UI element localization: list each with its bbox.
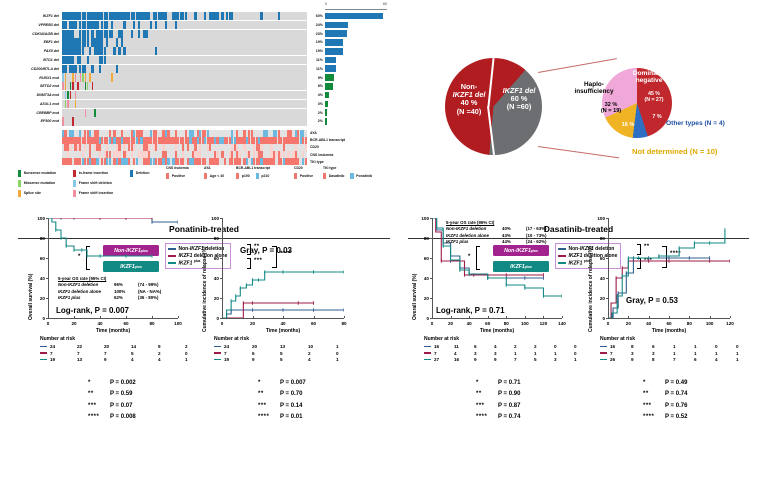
alteration-cell — [221, 12, 223, 20]
nar-value: 6 — [652, 344, 673, 349]
x-tick: 60 — [481, 321, 495, 326]
legend-item: Frame shift deletion — [73, 180, 113, 187]
p-value-stars: **** — [643, 412, 665, 423]
annotation-cell — [305, 130, 307, 137]
gene-frequency-bar — [325, 57, 336, 64]
ponatinib-panel: Ponatinib-treated Non-IKZF1plusIKZF1plus… — [8, 218, 400, 501]
ikzf1-distribution-pies: Non- IKZF1 del 40 % (N =40) IKZF1 del 60… — [420, 48, 759, 208]
p-value-row: **P = 0.59 — [88, 389, 136, 400]
nar-value: 14 — [131, 344, 158, 349]
alteration-cell — [101, 38, 103, 46]
gene-frequency-bar-area — [323, 117, 385, 125]
main-pie-non-ikzf1-label: Non- IKZF1 del 40 % (N =40) — [446, 83, 492, 116]
gene-frequency-bar — [325, 13, 383, 20]
gene-label: IKZF1 del — [0, 12, 62, 20]
alteration-cell — [65, 73, 66, 81]
p-value-row: ***P = 0.87 — [476, 401, 520, 412]
alteration-cell — [74, 21, 76, 29]
log-rank-result: Log-rank, P = 0.71 — [436, 306, 505, 315]
nar-value: 1 — [736, 357, 757, 362]
annotation-track — [62, 130, 307, 137]
legend-group: TKI typeDasatinibPonatinib — [323, 166, 378, 183]
nar-value: 16 — [454, 357, 474, 362]
legend-label: Age < 40 — [210, 174, 225, 178]
alteration-cell — [62, 73, 63, 81]
nar-value: 7 — [104, 351, 131, 356]
nar-group-dash — [600, 346, 607, 348]
alteration-cell — [85, 73, 86, 81]
p-value-stars: ** — [643, 389, 665, 400]
y-tick: 100 — [418, 216, 429, 221]
alteration-cell — [62, 38, 64, 46]
alteration-cell — [91, 65, 93, 73]
alteration-cell — [89, 21, 91, 29]
nar-value: 19 — [50, 357, 77, 362]
nar-value: 2 — [308, 351, 336, 356]
gene-frequency-pct: 19% — [307, 49, 323, 53]
p-value-stars: ** — [88, 389, 110, 400]
gene-alteration-track — [62, 56, 307, 64]
os-x-axis-label: Time (months) — [48, 328, 178, 334]
p-value-text: P = 0.76 — [665, 401, 687, 412]
y-tick: 100 — [208, 216, 219, 221]
number-at-risk-row: 26987641 — [600, 356, 757, 362]
nar-value: 4 — [131, 357, 158, 362]
nar-value: 6 — [252, 351, 280, 356]
number-at-risk-table: Number at risk24201310176520199541 — [214, 336, 364, 363]
alteration-cell — [89, 73, 90, 81]
dominant-negative-n: (N = 27) — [645, 97, 664, 103]
annotation-track — [62, 151, 307, 158]
nar-value: 26 — [610, 357, 631, 362]
x-tick: 100 — [171, 321, 185, 326]
alteration-cell — [180, 12, 182, 20]
x-tick: 20 — [246, 321, 260, 326]
annotation-row-label: CNS leukemia — [307, 153, 333, 157]
nar-group-dash — [40, 346, 47, 348]
p-value-stars: **** — [476, 412, 498, 423]
legend-item: Nonsense mutation — [18, 170, 56, 177]
nar-value: 11 — [454, 344, 474, 349]
nar-value: 5 — [280, 351, 308, 356]
p-value-stars: ** — [476, 389, 498, 400]
alteration-cell — [96, 12, 98, 20]
x-tick: 0 — [601, 321, 615, 326]
annotation-row-label: AYA — [307, 131, 317, 135]
alteration-cell — [69, 30, 71, 38]
x-tick: 40 — [276, 321, 290, 326]
nar-value: 7 — [434, 351, 454, 356]
nar-value: 4 — [494, 344, 514, 349]
oncoprint-gene-row: VPREB3 del24% — [0, 21, 385, 29]
alteration-cell — [116, 38, 118, 46]
alteration-cell — [72, 56, 74, 64]
nar-value: 20 — [252, 344, 280, 349]
gene-frequency-bar — [325, 83, 333, 90]
os-rate-stats: 5-year OS rate (95% CI)Non-IKZF1 deletio… — [446, 220, 547, 246]
alteration-cell — [113, 47, 115, 55]
alteration-cell — [87, 82, 88, 90]
alteration-cell — [138, 12, 140, 20]
gene-alteration-track — [62, 117, 307, 125]
p-value-text: P = 0.90 — [498, 389, 520, 400]
nar-value: 27 — [434, 357, 454, 362]
alteration-cell — [72, 21, 74, 29]
alteration-cell — [65, 91, 66, 99]
gene-frequency-bar — [325, 118, 327, 125]
alteration-cell — [111, 30, 113, 38]
p-value-row: *P = 0.007 — [258, 378, 306, 389]
alteration-cell — [72, 117, 73, 125]
nar-value: 1 — [673, 351, 694, 356]
p-value-text: P = 0.49 — [665, 378, 687, 389]
legend-swatch — [323, 173, 326, 180]
legend-label: Missense mutation — [24, 181, 56, 185]
alteration-cell — [131, 30, 133, 38]
alteration-cell — [62, 117, 63, 125]
alteration-cell — [138, 21, 140, 29]
alteration-cell — [148, 12, 150, 20]
dasatinib-panel: Dasatinib-treated Non-IKZF1plusIKZF1plus… — [398, 218, 759, 501]
oncoprint-gene-row: PAX5 del19% — [0, 47, 385, 55]
alteration-cell — [92, 82, 93, 90]
nar-group-dash — [214, 352, 221, 354]
nar-group-dash — [424, 346, 431, 348]
nar-value: 1 — [336, 357, 364, 362]
alteration-cell — [65, 100, 66, 108]
not-determined-label: Not determined (N = 10) — [632, 148, 759, 157]
x-tick: 100 — [518, 321, 532, 326]
legend-swatch — [18, 180, 21, 187]
legend-swatch — [130, 170, 133, 177]
x-tick: 80 — [145, 321, 159, 326]
legend-label: Nonsense mutation — [24, 171, 56, 175]
x-tick: 40 — [93, 321, 107, 326]
gene-frequency-bar — [325, 109, 327, 116]
nar-value: 6 — [694, 357, 715, 362]
alteration-cell — [226, 12, 228, 20]
nar-value: 5 — [534, 357, 554, 362]
alteration-cell — [214, 12, 216, 20]
oncoprint-bar-axis: 0 60 — [325, 2, 397, 12]
x-tick-mark — [730, 316, 731, 318]
p-value-text: P = 0.07 — [110, 401, 132, 412]
p-value-row: **P = 0.90 — [476, 389, 520, 400]
nar-value: 7 — [610, 351, 631, 356]
alteration-cell — [67, 100, 68, 108]
oncoprint-panel: 0 60 IKZF1 del60%VPREB3 del24%CDKN2A/2B … — [0, 0, 400, 205]
alteration-cell — [94, 109, 95, 117]
legend-swatch — [18, 190, 21, 197]
y-tick: 40 — [594, 276, 605, 281]
gene-frequency-pct: 23% — [307, 32, 323, 36]
alteration-cell — [82, 47, 84, 55]
p-value-row: *P = 0.71 — [476, 378, 520, 389]
legend-swatch — [204, 173, 207, 180]
legend-swatch — [73, 170, 76, 177]
nar-value: 0 — [336, 351, 364, 356]
nar-value: 9 — [252, 357, 280, 362]
p-value-text: P = 0.008 — [110, 412, 136, 423]
legend-item: Ponatinib — [350, 173, 372, 180]
nar-value: 22 — [77, 344, 104, 349]
alteration-cell — [121, 38, 123, 46]
annotation-track — [62, 144, 307, 151]
y-tick: 60 — [208, 256, 219, 261]
gene-frequency-bar — [325, 22, 348, 29]
x-tick-mark — [344, 316, 345, 318]
other-types-pct: 7 % — [648, 114, 666, 120]
haplo-insufficiency-label: Haplo-insufficiency — [568, 81, 620, 95]
annotation-row-label: TKI type — [307, 160, 324, 164]
cir-curves — [222, 218, 344, 318]
bar-axis-line — [325, 9, 387, 10]
nar-value: 2 — [534, 344, 554, 349]
alteration-cell — [67, 30, 69, 38]
legend-label: In-frame insertion — [79, 171, 109, 175]
legend-label: Frame shift deletion — [79, 181, 112, 185]
annotation-row-label: CD20 — [307, 145, 319, 149]
legend-label: Splice site — [24, 191, 41, 195]
annotation-track — [62, 158, 307, 165]
nar-group-dash — [600, 352, 607, 354]
nar-value: 1 — [534, 351, 554, 356]
alteration-cell — [82, 73, 83, 81]
alteration-cell — [106, 30, 108, 38]
alteration-cell — [62, 47, 64, 55]
x-tick: 60 — [307, 321, 321, 326]
alteration-cell — [104, 47, 106, 55]
gene-frequency-bar — [325, 48, 343, 55]
y-tick: 20 — [34, 296, 45, 301]
nar-value: 5 — [280, 357, 308, 362]
alteration-cell — [94, 47, 96, 55]
number-at-risk-row: 19139441 — [40, 356, 212, 362]
alteration-cell — [116, 12, 118, 20]
legend-swatch — [73, 190, 76, 197]
alteration-cell — [123, 12, 125, 20]
alteration-cell — [101, 30, 103, 38]
alteration-cell — [116, 65, 118, 73]
y-tick: 60 — [418, 256, 429, 261]
gray-test-result: Gray, P = 0.03 — [240, 246, 292, 255]
bar-axis-tick-60: 60 — [383, 2, 387, 6]
y-tick: 0 — [34, 316, 45, 321]
haplo-insufficiency-text: Haplo-insufficiency — [574, 81, 613, 95]
oncoprint-gene-rows: IKZF1 del60%VPREB3 del24%CDKN2A/2B del23… — [0, 12, 385, 126]
gene-frequency-pct: 2% — [307, 111, 323, 115]
survival-curve — [48, 218, 152, 256]
p-value-text: P = 0.14 — [280, 401, 302, 412]
not-determined-pct: 16 % — [618, 122, 638, 128]
p-value-row: ****P = 0.52 — [643, 412, 687, 423]
alteration-cell — [121, 30, 123, 38]
alteration-cell — [70, 91, 71, 99]
nar-value: 9 — [474, 357, 494, 362]
legend-item: Splice site — [18, 190, 56, 197]
p-value-text: P = 0.01 — [280, 412, 302, 423]
p-value-row: ***P = 0.14 — [258, 401, 306, 412]
oncoprint-annotation-rows: AYABCR-ABL1 transcriptCD20CNS leukemiaTK… — [0, 130, 345, 165]
x-tick: 20 — [67, 321, 81, 326]
x-tick: 0 — [215, 321, 229, 326]
annotation-row: TKI type — [0, 158, 345, 165]
p-value-row: ****P = 0.01 — [258, 412, 306, 423]
alteration-cell — [104, 21, 106, 29]
number-at-risk-table: Number at risk16116422007433111027169975… — [424, 336, 594, 363]
gene-frequency-bar-area — [323, 47, 385, 55]
gene-frequency-bar-area — [323, 65, 385, 73]
log-rank-result: Log-rank, P = 0.007 — [56, 306, 129, 315]
legend-label: p210 — [261, 174, 269, 178]
gene-label: CD200/BTLA del — [0, 65, 62, 73]
alteration-cell — [216, 12, 218, 20]
alteration-cell — [99, 65, 101, 73]
p-value-text: P = 0.59 — [110, 389, 132, 400]
x-tick: 120 — [723, 321, 737, 326]
nar-value: 3 — [652, 351, 673, 356]
gray-test-result: Gray, P = 0.53 — [626, 296, 678, 305]
alteration-cell — [106, 38, 108, 46]
gene-label: EBF1 del — [0, 38, 62, 46]
legend-swatch — [73, 180, 76, 187]
p-value-text: P = 0.002 — [110, 378, 136, 389]
gene-frequency-bar — [325, 74, 334, 81]
p-value-stars: *** — [643, 401, 665, 412]
annotation-cell — [305, 144, 307, 151]
legend-label: p190 — [242, 174, 250, 178]
pie-connector-bottom — [538, 146, 619, 158]
dasatinib-os-pvalues: *P = 0.71**P = 0.90***P = 0.87****P = 0.… — [476, 378, 520, 424]
gene-frequency-bar-area — [323, 21, 385, 29]
legend-column: In-frame insertionFrame shift deletionFr… — [73, 170, 113, 200]
p-value-text: P = 0.87 — [498, 401, 520, 412]
bar-axis-tick-0: 0 — [325, 2, 327, 6]
legend-item: Missense mutation — [18, 180, 56, 187]
gene-frequency-pct: 4% — [307, 93, 323, 97]
alteration-cell — [62, 82, 63, 90]
legend-column: Nonsense mutationMissense mutationSplice… — [18, 170, 56, 200]
gene-frequency-bar-area — [323, 82, 385, 90]
nar-value: 0 — [715, 344, 736, 349]
nar-value: 3 — [474, 351, 494, 356]
number-at-risk-table: Number at risk16861100733111126987641 — [600, 336, 757, 363]
nar-value: 8 — [631, 344, 652, 349]
alteration-cell — [74, 12, 76, 20]
alteration-cell — [69, 21, 71, 29]
alteration-cell — [155, 47, 157, 55]
gene-label: EP300 mut — [0, 117, 62, 125]
number-at-risk-row: 2716997531 — [424, 356, 594, 362]
alteration-cell — [82, 21, 84, 29]
stat-value: 44% — [502, 239, 526, 245]
alteration-cell — [84, 65, 86, 73]
haplo-insufficiency-n: (N = 19) — [601, 108, 621, 114]
gene-alteration-track — [62, 65, 307, 73]
gene-frequency-bar-area — [323, 109, 385, 117]
alteration-cell — [64, 21, 66, 29]
gene-alteration-track — [62, 82, 307, 90]
gene-label: CDKN2A/2B del — [0, 30, 62, 38]
gene-frequency-bar-area — [323, 91, 385, 99]
alteration-cell — [165, 12, 167, 20]
x-tick: 120 — [536, 321, 550, 326]
legend-swatch — [236, 173, 239, 180]
nar-value: 24 — [50, 344, 77, 349]
gene-label: BTG1 del — [0, 56, 62, 64]
y-tick: 60 — [34, 256, 45, 261]
annotation-row: AYA — [0, 130, 345, 137]
number-at-risk-title: Number at risk — [424, 336, 594, 342]
oncoprint-gene-row: CREBBP mut2% — [0, 109, 385, 117]
x-axis-line — [222, 318, 344, 319]
number-at-risk-row: 777520 — [40, 350, 212, 356]
stat-row: IKZF1 plus62%(36 - 80%) — [58, 295, 161, 301]
gene-alteration-track — [62, 73, 307, 81]
alteration-cell — [104, 56, 106, 64]
x-tick-mark — [562, 316, 563, 318]
x-tick: 100 — [703, 321, 717, 326]
number-at-risk-row: 74331110 — [424, 350, 594, 356]
p-value-stars: **** — [88, 412, 110, 423]
alteration-cell — [133, 21, 135, 29]
stat-name: IKZF1 plus — [446, 239, 502, 245]
alteration-cell — [72, 30, 74, 38]
stat-ci: (36 - 80%) — [138, 295, 159, 301]
alteration-cell — [75, 73, 76, 81]
gene-frequency-bar-area — [323, 30, 385, 38]
alteration-cell — [111, 73, 112, 81]
legend-group-title: BCR-ABL1 transcript — [236, 166, 275, 170]
p-value-stars: **** — [258, 412, 280, 423]
alteration-cell — [72, 12, 74, 20]
alteration-cell — [123, 47, 125, 55]
legend-swatch — [166, 173, 169, 180]
dasatinib-cir-pvalues: *P = 0.49**P = 0.74***P = 0.76****P = 0.… — [643, 378, 687, 424]
nar-value: 1 — [673, 344, 694, 349]
annotation-cell — [305, 151, 307, 158]
gene-label: RUNX1 mut — [0, 74, 62, 82]
number-at-risk-title: Number at risk — [214, 336, 364, 342]
alteration-cell — [160, 12, 162, 20]
gene-label: CREBBP mut — [0, 109, 62, 117]
annotation-row: CNS leukemia — [0, 151, 345, 158]
legend-swatch — [18, 170, 21, 177]
gene-frequency-bar-area — [323, 73, 385, 81]
p-value-stars: * — [88, 378, 110, 389]
x-tick: 20 — [621, 321, 635, 326]
p-value-text: P = 0.74 — [665, 389, 687, 400]
legend-item: In-frame insertion — [73, 170, 113, 177]
legend-item: Dasatinib — [323, 173, 344, 180]
gene-frequency-bar — [325, 92, 329, 99]
x-tick: 60 — [119, 321, 133, 326]
x-tick: 80 — [337, 321, 351, 326]
gene-frequency-pct: 60% — [307, 14, 323, 18]
dominant-negative-label: Dominant-negative — [624, 70, 674, 85]
legend-group: CD20Positive — [294, 166, 319, 183]
nar-group-dash — [424, 352, 431, 354]
legend-item: Age < 40 — [204, 173, 224, 180]
gene-frequency-pct: 3% — [307, 102, 323, 106]
annotation-row-label: BCR-ABL1 transcript — [307, 138, 345, 142]
gene-frequency-pct: 11% — [307, 58, 323, 62]
oncoprint-gene-row: ASXL1 mut3% — [0, 100, 385, 108]
alteration-cell — [87, 30, 89, 38]
os-x-axis-label: Time (months) — [432, 328, 562, 334]
nar-group-dash — [40, 352, 47, 354]
alteration-cell — [72, 73, 73, 81]
